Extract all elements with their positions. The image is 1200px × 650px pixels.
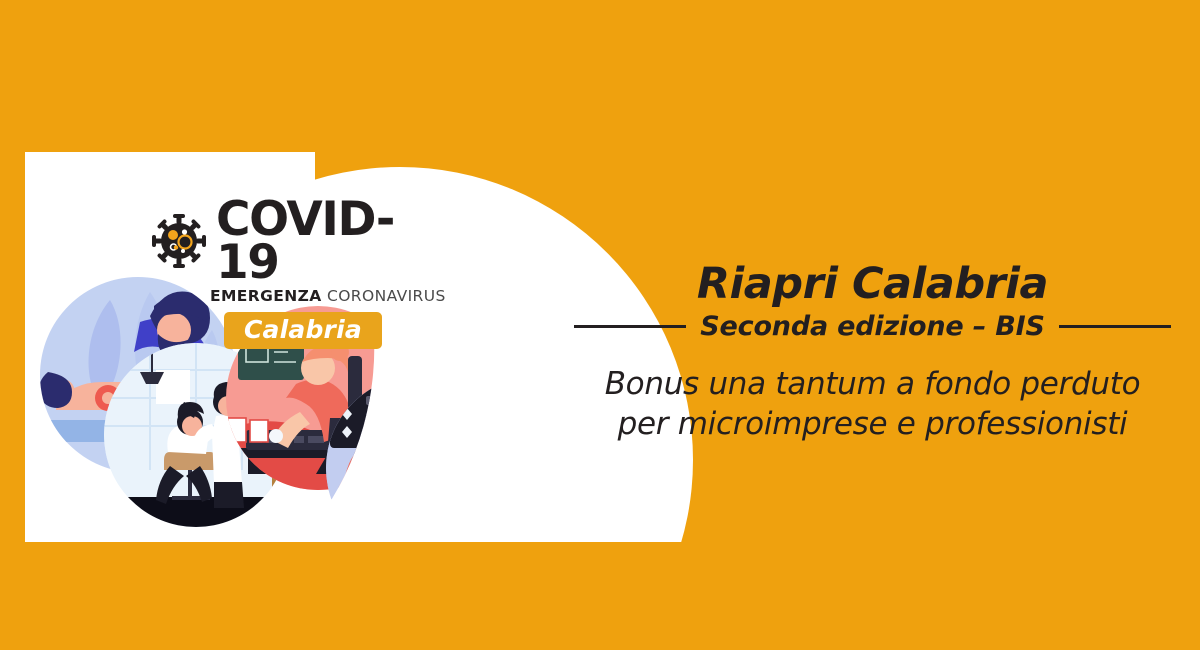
headline-block: Riapri Calabria Seconda edizione – BIS B…: [585, 262, 1160, 445]
rule-right: [1059, 325, 1171, 328]
calabria-badge: Calabria: [224, 312, 382, 349]
covid-subtitle-strong: EMERGENZA: [210, 287, 322, 305]
poster-canvas: COVID-19 EMERGENZA CORONAVIRUS Calabria …: [0, 0, 1200, 650]
covid-subtitle: EMERGENZA CORONAVIRUS: [210, 287, 442, 305]
tagline-line-1: Bonus una tantum a fondo perduto: [585, 364, 1160, 404]
rule-left: [574, 325, 686, 328]
covid-title: COVID-19: [216, 198, 442, 284]
coronavirus-icon: [152, 214, 206, 268]
tagline-line-2: per microimprese e professionisti: [585, 404, 1160, 444]
covid-logo: COVID-19 EMERGENZA CORONAVIRUS Calabria: [152, 198, 442, 349]
covid-subtitle-light: CORONAVIRUS: [327, 287, 446, 305]
page-subtitle: Seconda edizione – BIS: [700, 311, 1044, 342]
page-title: Riapri Calabria: [585, 262, 1160, 307]
tagline: Bonus una tantum a fondo perduto per mic…: [585, 364, 1160, 445]
subtitle-row: Seconda edizione – BIS: [585, 311, 1160, 342]
